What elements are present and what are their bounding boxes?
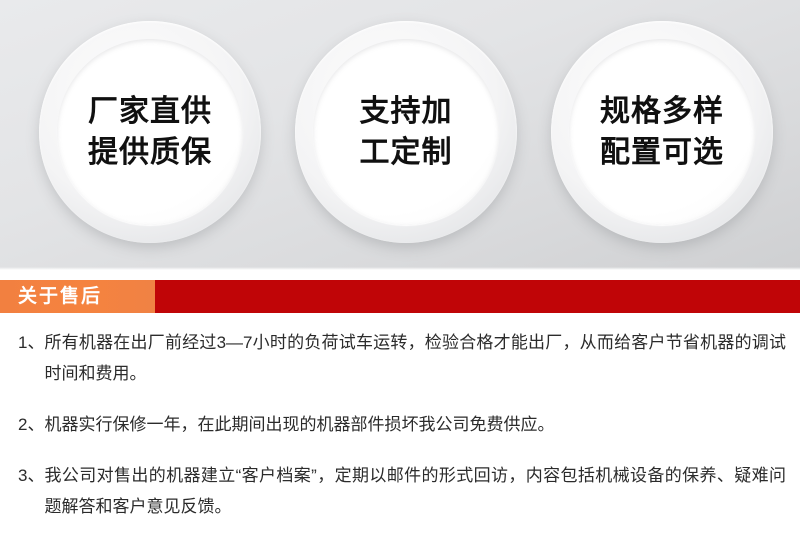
badge-inner-disc: 厂家直供 提供质保 (57, 39, 243, 225)
list-item-index: 2、 (18, 409, 44, 440)
list-item-text: 机器实行保修一年，在此期间出现的机器部件损坏我公司免费供应。 (44, 409, 786, 440)
selling-point-badge-varied-specs: 规格多样 配置可选 (551, 21, 773, 243)
promo-page: 厂家直供 提供质保 支持加 工定制 规格多样 配置可选 关于售后 1、 所有 (0, 0, 800, 527)
badge-inner-disc: 支持加 工定制 (313, 39, 499, 225)
badge-line-1: 厂家直供 (88, 91, 212, 132)
list-item-text: 我公司对售出的机器建立“客户档案”，定期以邮件的形式回访，内容包括机械设备的保养… (44, 460, 786, 522)
section-title-tag: 关于售后 (0, 280, 155, 313)
badge-inner-disc: 规格多样 配置可选 (569, 39, 755, 225)
after-sales-section-header: 关于售后 (0, 280, 800, 313)
badge-line-2: 提供质保 (88, 132, 212, 173)
list-item-text: 所有机器在出厂前经过3—7小时的负荷试车运转，检验合格才能出厂，从而给客户节省机… (44, 327, 786, 389)
badge-line-1: 支持加 (360, 91, 453, 132)
selling-points-banner: 厂家直供 提供质保 支持加 工定制 规格多样 配置可选 (0, 0, 800, 270)
list-item-index: 1、 (18, 327, 44, 358)
badge-line-2: 工定制 (360, 132, 453, 173)
badge-line-2: 配置可选 (600, 132, 724, 173)
list-item-index: 3、 (18, 460, 44, 491)
list-item: 1、 所有机器在出厂前经过3—7小时的负荷试车运转，检验合格才能出厂，从而给客户… (18, 327, 786, 389)
list-item: 2、 机器实行保修一年，在此期间出现的机器部件损坏我公司免费供应。 (18, 409, 786, 440)
badge-line-1: 规格多样 (600, 91, 724, 132)
selling-point-badge-factory-direct: 厂家直供 提供质保 (39, 21, 261, 243)
selling-point-badge-custom-processing: 支持加 工定制 (295, 21, 517, 243)
list-item: 3、 我公司对售出的机器建立“客户档案”，定期以邮件的形式回访，内容包括机械设备… (18, 460, 786, 522)
after-sales-notes-list: 1、 所有机器在出厂前经过3—7小时的负荷试车运转，检验合格才能出厂，从而给客户… (0, 327, 800, 542)
section-title: 关于售后 (18, 287, 102, 306)
section-header-bar (155, 280, 800, 313)
